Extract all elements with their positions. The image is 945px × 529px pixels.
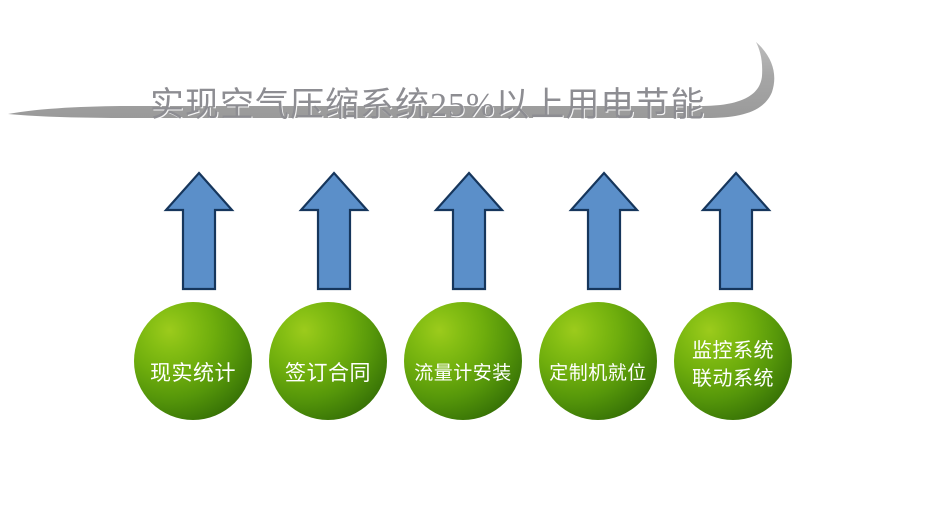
arrow-up-5: [700, 170, 772, 292]
arrow-up-1: [163, 170, 235, 292]
step-sphere-5[interactable]: 监控系统 联动系统: [674, 302, 792, 420]
title-banner: 实现空气压缩系统25%以上用电节能: [0, 30, 945, 130]
arrow-up-4: [568, 170, 640, 292]
step-sphere-4[interactable]: 定制机就位: [539, 302, 657, 420]
page-title: 实现空气压缩系统25%以上用电节能: [150, 80, 750, 132]
step-sphere-2[interactable]: 签订合同: [269, 302, 387, 420]
step-label-3: 流量计安装: [414, 361, 512, 386]
step-label-5: 监控系统 联动系统: [692, 337, 774, 393]
arrow-up-2: [298, 170, 370, 292]
step-sphere-1[interactable]: 现实统计: [134, 302, 252, 420]
step-label-5-line-2: 联动系统: [692, 365, 774, 393]
step-label-1: 现实统计: [150, 361, 236, 386]
step-sphere-3[interactable]: 流量计安装: [404, 302, 522, 420]
step-label-2: 签订合同: [285, 361, 371, 386]
step-label-4: 定制机就位: [549, 361, 647, 386]
step-label-5-line-1: 监控系统: [692, 337, 774, 365]
arrow-up-3: [433, 170, 505, 292]
slide-canvas: 实现空气压缩系统25%以上用电节能 现实统计 签订合同 流量计安装: [0, 0, 945, 529]
